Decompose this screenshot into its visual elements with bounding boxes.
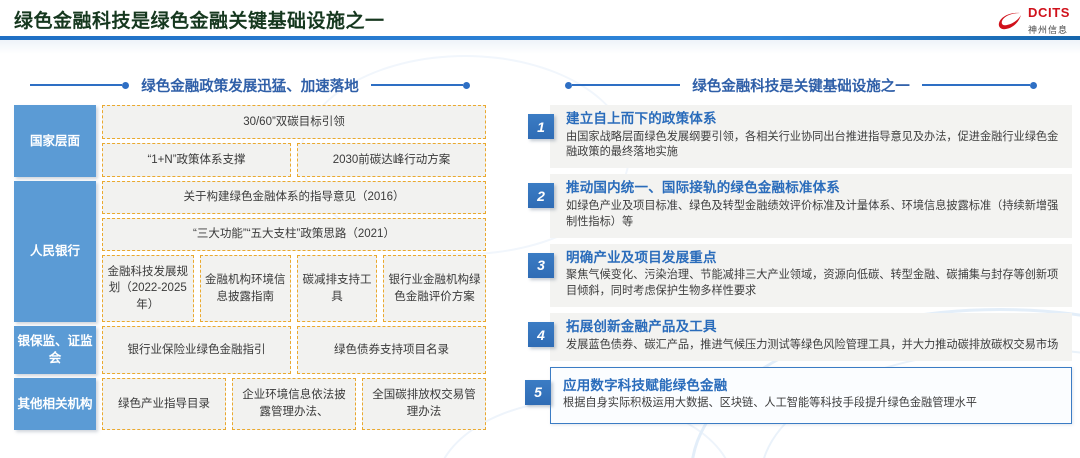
header-dot-right xyxy=(1030,82,1037,89)
policy-row: 其他相关机构绿色产业指导目录企业环境信息依法披露管理办法、全国碳排放权交易管理办… xyxy=(14,378,486,430)
policy-row-label: 其他相关机构 xyxy=(14,378,96,430)
policy-cell: 银行业金融机构绿色金融评价方案 xyxy=(383,255,486,322)
policy-cell: 绿色产业指导目录 xyxy=(102,378,226,430)
policy-cell: 金融科技发展规划（2022-2025年） xyxy=(102,255,194,322)
left-section-header: 绿色金融政策发展迅猛、加速落地 xyxy=(14,75,486,95)
header-dot-right xyxy=(463,82,470,89)
logo-name-en: DCITS xyxy=(1028,5,1070,20)
policy-row-cells: 绿色产业指导目录企业环境信息依法披露管理办法、全国碳排放权交易管理办法 xyxy=(96,378,486,430)
policy-cell: 30/60”双碳目标引领 xyxy=(102,105,486,139)
pillar-title: 应用数字科技赋能绿色金融 xyxy=(563,377,1055,395)
pillar-item[interactable]: 4拓展创新金融产品及工具发展蓝色债券、碳汇产品，推进气候压力测试等绿色风险管理工… xyxy=(528,313,1072,360)
header-deco-right xyxy=(922,82,1037,89)
policy-subrow: 30/60”双碳目标引领 xyxy=(102,105,486,139)
policy-subrow: 银行业保险业绿色金融指引绿色债券支持项目名录 xyxy=(102,326,486,374)
pillar-description: 由国家战略层面绿色发展纲要引领，各相关行业协同出台推进指导意见及办法，促进金融行… xyxy=(566,130,1060,162)
pillar-description: 根据自身实际积极运用大数据、区块链、人工智能等科技手段提升绿色金融管理水平 xyxy=(563,396,1055,412)
pillar-description: 发展蓝色债券、碳汇产品，推进气候压力测试等绿色风险管理工具，并大力推动碳排放碳权… xyxy=(566,338,1060,354)
header-line-left xyxy=(30,84,122,86)
policy-cell: 绿色债券支持项目名录 xyxy=(297,326,486,374)
policy-row: 人民银行关于构建绿色金融体系的指导意见（2016）“三大功能”“五大支柱”政策思… xyxy=(14,181,486,322)
policy-cell: 企业环境信息依法披露管理办法、 xyxy=(232,378,356,430)
page-title: 绿色金融科技是绿色金融关键基础设施之一 xyxy=(14,6,385,33)
policy-subrow: 关于构建绿色金融体系的指导意见（2016） xyxy=(102,181,486,214)
policy-cell: 银行业保险业绿色金融指引 xyxy=(102,326,291,374)
policy-subrow: 绿色产业指导目录企业环境信息依法披露管理办法、全国碳排放权交易管理办法 xyxy=(102,378,486,430)
header-line-right xyxy=(922,84,1030,86)
policy-row-cells: 关于构建绿色金融体系的指导意见（2016）“三大功能”“五大支柱”政策思路（20… xyxy=(96,181,486,322)
pillar-item[interactable]: 2推动国内统一、国际接轨的绿色金融标准体系如绿色产业及项目标准、绿色及转型金融绩… xyxy=(528,174,1072,237)
pillar-description: 如绿色产业及项目标准、绿色及转型金融绩效评价标准及计量体系、环境信息披露标准（持… xyxy=(566,199,1060,231)
pillar-description: 聚焦气候变化、污染治理、节能减排三大产业领域，资源向低碳、转型金融、碳捕集与封存… xyxy=(566,268,1060,300)
pillar-item[interactable]: 3明确产业及项目发展重点聚焦气候变化、污染治理、节能减排三大产业领域，资源向低碳… xyxy=(528,244,1072,307)
pillar-number-badge: 5 xyxy=(525,380,551,405)
logo-name-cn: 神州信息 xyxy=(1028,25,1068,35)
header-dot-left xyxy=(122,82,129,89)
right-section-title: 绿色金融科技是关键基础设施之一 xyxy=(680,75,922,96)
policy-row-label: 银保监、证监会 xyxy=(14,326,96,374)
policy-cell: “三大功能”“五大支柱”政策思路（2021） xyxy=(102,218,486,251)
left-section-title: 绿色金融政策发展迅猛、加速落地 xyxy=(129,75,371,96)
policy-cell: 2030前碳达峰行动方案 xyxy=(297,143,486,177)
pillar-item-highlighted[interactable]: 5应用数字科技赋能绿色金融根据自身实际积极运用大数据、区块链、人工智能等科技手段… xyxy=(550,367,1072,424)
pillar-title: 明确产业及项目发展重点 xyxy=(566,249,1060,267)
header-deco-left xyxy=(30,82,129,89)
policy-row-cells: 30/60”双碳目标引领“1+N”政策体系支撑2030前碳达峰行动方案 xyxy=(96,105,486,177)
pillar-body: 建立自上而下的政策体系由国家战略层面绿色发展纲要引领，各相关行业协同出台推进指导… xyxy=(550,105,1072,168)
pillar-body: 拓展创新金融产品及工具发展蓝色债券、碳汇产品，推进气候压力测试等绿色风险管理工具… xyxy=(550,313,1072,360)
pillar-title: 建立自上而下的政策体系 xyxy=(566,110,1060,128)
pillar-body: 明确产业及项目发展重点聚焦气候变化、污染治理、节能减排三大产业领域，资源向低碳、… xyxy=(550,244,1072,307)
pillar-title: 拓展创新金融产品及工具 xyxy=(566,318,1060,336)
policy-subrow: “三大功能”“五大支柱”政策思路（2021） xyxy=(102,218,486,251)
pillar-body: 推动国内统一、国际接轨的绿色金融标准体系如绿色产业及项目标准、绿色及转型金融绩效… xyxy=(550,174,1072,237)
logo-wordmark: DCITS 神州信息 xyxy=(1028,5,1070,37)
policy-cell: 全国碳排放权交易管理办法 xyxy=(362,378,486,430)
pillar-number-badge: 1 xyxy=(528,114,554,139)
title-divider-glow xyxy=(0,40,1080,54)
policy-cell: “1+N”政策体系支撑 xyxy=(102,143,291,177)
policy-row-cells: 银行业保险业绿色金融指引绿色债券支持项目名录 xyxy=(96,326,486,374)
policy-subrow: “1+N”政策体系支撑2030前碳达峰行动方案 xyxy=(102,143,486,177)
dcits-swirl-icon xyxy=(997,10,1023,32)
policy-table: 国家层面30/60”双碳目标引领“1+N”政策体系支撑2030前碳达峰行动方案人… xyxy=(14,105,486,430)
slide-canvas: 绿色金融科技是绿色金融关键基础设施之一 DCITS 神州信息 绿色金融政策发展迅… xyxy=(0,0,1080,458)
policy-subrow: 金融科技发展规划（2022-2025年）金融机构环境信息披露指南碳减排支持工具银… xyxy=(102,255,486,322)
policy-cell: 关于构建绿色金融体系的指导意见（2016） xyxy=(102,181,486,214)
pillar-title: 推动国内统一、国际接轨的绿色金融标准体系 xyxy=(566,179,1060,197)
pillar-body: 应用数字科技赋能绿色金融根据自身实际积极运用大数据、区块链、人工智能等科技手段提… xyxy=(547,372,1067,419)
pillar-number-badge: 2 xyxy=(528,183,554,208)
header-dot-left xyxy=(565,82,572,89)
header-line-left xyxy=(572,84,680,86)
header-deco-right xyxy=(371,82,470,89)
fintech-pillars-list: 1建立自上而下的政策体系由国家战略层面绿色发展纲要引领，各相关行业协同出台推进指… xyxy=(528,105,1072,435)
policy-cell: 碳减排支持工具 xyxy=(297,255,377,322)
brand-logo: DCITS 神州信息 xyxy=(997,5,1070,37)
policy-row: 国家层面30/60”双碳目标引领“1+N”政策体系支撑2030前碳达峰行动方案 xyxy=(14,105,486,177)
pillar-number-badge: 4 xyxy=(528,322,554,347)
policy-row-label: 国家层面 xyxy=(14,105,96,177)
pillar-item[interactable]: 1建立自上而下的政策体系由国家战略层面绿色发展纲要引领，各相关行业协同出台推进指… xyxy=(528,105,1072,168)
header-line-right xyxy=(371,84,463,86)
right-section-header: 绿色金融科技是关键基础设施之一 xyxy=(534,75,1068,95)
policy-row-label: 人民银行 xyxy=(14,181,96,322)
pillar-number-badge: 3 xyxy=(528,253,554,278)
header-deco-left xyxy=(565,82,680,89)
policy-cell: 金融机构环境信息披露指南 xyxy=(200,255,292,322)
policy-row: 银保监、证监会银行业保险业绿色金融指引绿色债券支持项目名录 xyxy=(14,326,486,374)
